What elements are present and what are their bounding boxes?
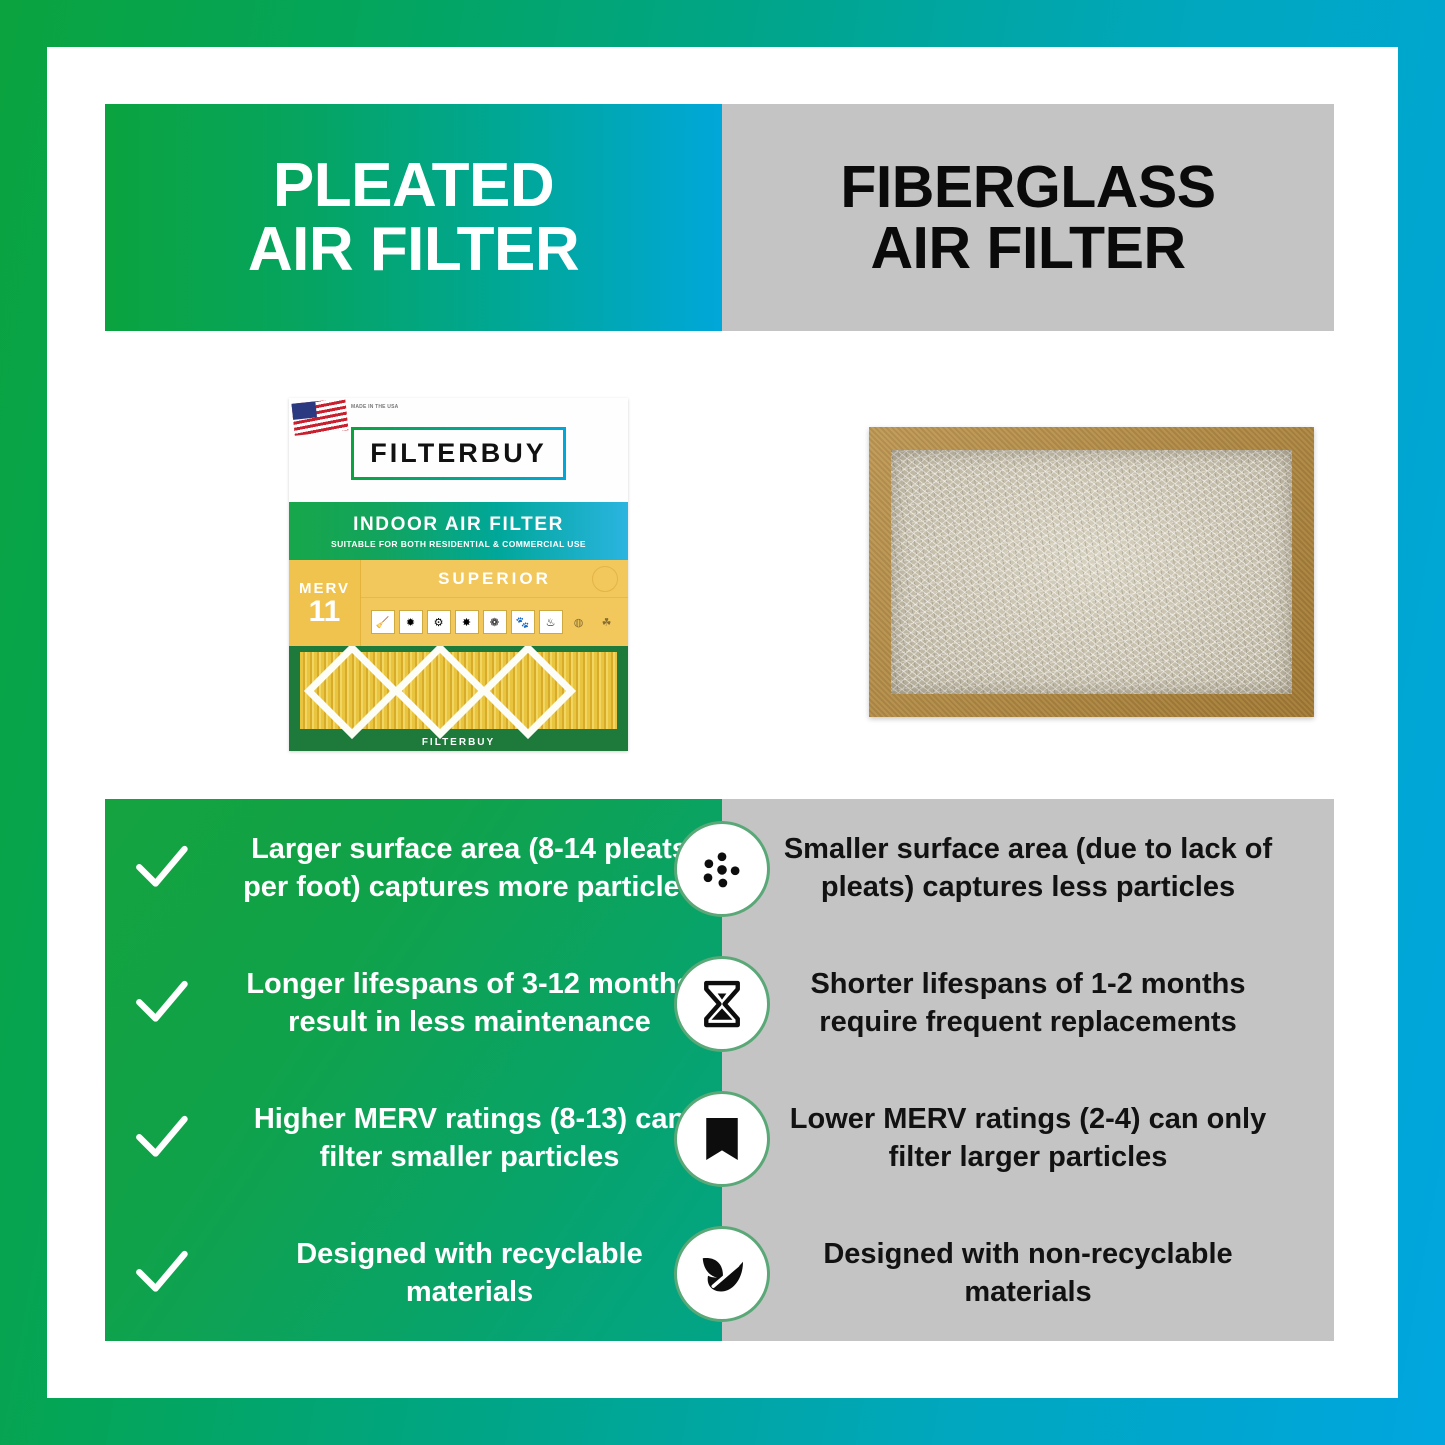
product-box-top: MADE IN THE USA FILTERBUY	[289, 398, 628, 502]
header-pleated-line2: AIR FILTER	[248, 218, 579, 281]
grid-diamond	[304, 646, 400, 739]
hourglass-icon	[674, 956, 770, 1052]
filterbuy-logo-text: FILTERBUY	[370, 438, 547, 468]
row-text-fiberglass: Shorter lifespans of 1-2 months require …	[722, 966, 1334, 1040]
product-band-title: INDOOR AIR FILTER	[353, 514, 564, 536]
row-text-fiberglass: Smaller surface area (due to lack of ple…	[722, 831, 1334, 905]
usa-flag-icon	[291, 398, 348, 435]
grid-diamond	[480, 646, 576, 739]
grid-diamond	[392, 646, 488, 739]
checkmark-icon	[105, 1110, 217, 1168]
product-band: INDOOR AIR FILTER SUITABLE FOR BOTH RESI…	[289, 502, 628, 560]
checkmark-icon	[105, 975, 217, 1033]
header-row: PLEATED AIR FILTER FIBERGLASS AIR FILTER	[105, 104, 1334, 331]
support-grid	[300, 652, 617, 729]
pet-dander-icon: 🐾	[511, 610, 535, 634]
row-text-pleated: Longer lifespans of 3-12 months result i…	[217, 966, 722, 1040]
product-feature-icons: 🧹 ✹ ⚙ ✸ ❁ 🐾 ♨ ◍ ☘	[361, 598, 628, 646]
header-pleated: PLEATED AIR FILTER	[105, 104, 722, 331]
row-text-fiberglass: Lower MERV ratings (2-4) can only filter…	[722, 1101, 1334, 1175]
virus-icon: ☘	[595, 610, 619, 634]
merv-badge: MERV 11	[289, 560, 361, 646]
pollen-icon: ✸	[455, 610, 479, 634]
bookmark-icon	[674, 1091, 770, 1187]
filterbuy-logo: FILTERBUY	[351, 427, 566, 480]
leaf-icon	[674, 1226, 770, 1322]
merv-value: 11	[309, 597, 341, 627]
checkmark-icon	[105, 840, 217, 898]
dust-icon: 🧹	[371, 610, 395, 634]
particles-icon	[674, 821, 770, 917]
fiberglass-mesh-texture	[891, 450, 1292, 694]
made-in-usa-label: MADE IN THE USA	[351, 404, 398, 412]
header-pleated-line1: PLEATED	[273, 154, 554, 217]
smoke-icon: ♨	[539, 610, 563, 634]
product-tier-block: SUPERIOR 🧹 ✹ ⚙ ✸ ❁ 🐾 ♨ ◍ ☘	[361, 560, 628, 646]
checkmark-icon	[105, 1245, 217, 1303]
row-text-pleated: Higher MERV ratings (8-13) can filter sm…	[217, 1101, 722, 1175]
ul-certification-icon	[592, 566, 618, 592]
pleated-media-view: FILTERBUY	[289, 646, 628, 751]
odor-icon: ◍	[567, 610, 591, 634]
comparison-table: Larger surface area (8-14 pleats per foo…	[105, 799, 1334, 1341]
merv-label: MERV	[299, 580, 350, 597]
pleated-filter-product-image: MADE IN THE USA FILTERBUY INDOOR AIR FIL…	[289, 398, 628, 751]
fiberglass-filter-product-image	[869, 427, 1314, 717]
row-text-pleated: Larger surface area (8-14 pleats per foo…	[217, 831, 722, 905]
product-tier-text: SUPERIOR	[438, 569, 551, 589]
infographic-page: PLEATED AIR FILTER FIBERGLASS AIR FILTER…	[0, 0, 1445, 1445]
bacteria-icon: ⚙	[427, 610, 451, 634]
mold-icon: ❁	[483, 610, 507, 634]
white-card: PLEATED AIR FILTER FIBERGLASS AIR FILTER…	[47, 47, 1398, 1398]
header-fiberglass: FIBERGLASS AIR FILTER	[722, 104, 1334, 331]
insect-icon: ✹	[399, 610, 423, 634]
row-text-pleated: Designed with recyclable materials	[217, 1236, 722, 1310]
product-merv-row: MERV 11 SUPERIOR 🧹 ✹ ⚙ ✸ ❁	[289, 560, 628, 646]
product-bottom-brand: FILTERBUY	[289, 737, 628, 748]
product-tier-label: SUPERIOR	[361, 560, 628, 598]
header-fiberglass-line1: FIBERGLASS	[840, 157, 1215, 217]
header-fiberglass-line2: AIR FILTER	[870, 218, 1185, 278]
product-images-band: MADE IN THE USA FILTERBUY INDOOR AIR FIL…	[105, 331, 1334, 799]
product-band-subtitle: SUITABLE FOR BOTH RESIDENTIAL & COMMERCI…	[331, 539, 586, 549]
comparison-rows: Larger surface area (8-14 pleats per foo…	[105, 799, 1334, 1341]
row-text-fiberglass: Designed with non-recyclable materials	[722, 1236, 1334, 1310]
